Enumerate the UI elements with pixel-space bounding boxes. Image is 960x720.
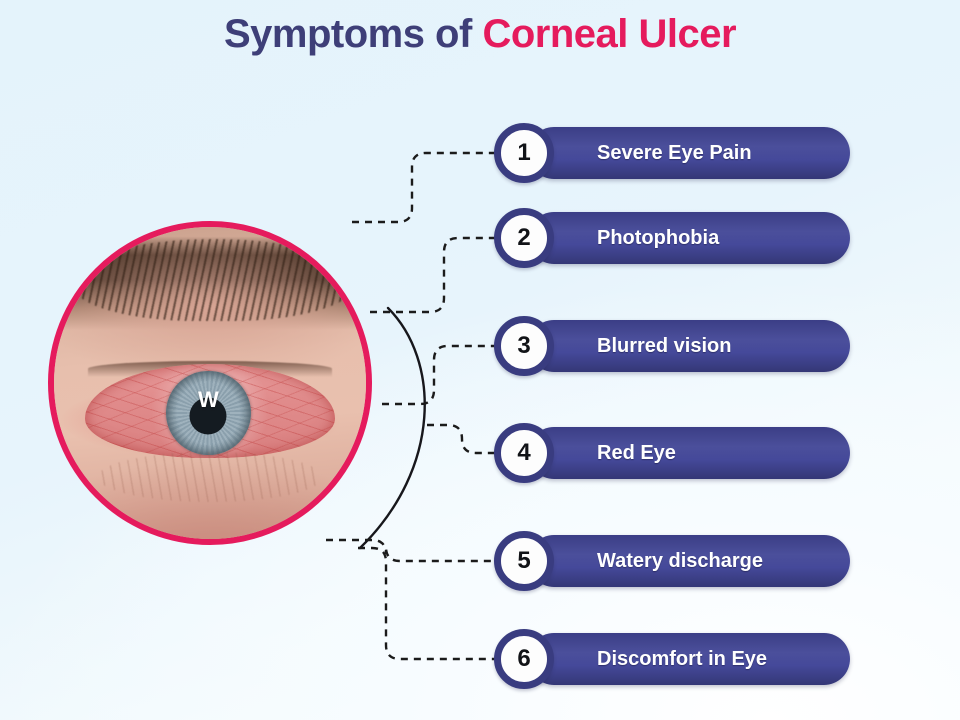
symptom-item-5[interactable]: 5 Watery discharge (528, 535, 850, 587)
watermark-glint: W (198, 389, 219, 411)
symptom-number-badge: 2 (494, 208, 554, 268)
symptom-item-6[interactable]: 6 Discomfort in Eye (528, 633, 850, 685)
title-accent-text: Corneal Ulcer (482, 12, 736, 56)
symptom-label: Red Eye (597, 442, 676, 465)
connector-2 (370, 238, 512, 312)
symptom-label: Discomfort in Eye (597, 648, 767, 671)
symptom-item-3[interactable]: 3 Blurred vision (528, 320, 850, 372)
symptom-number-badge: 4 (494, 423, 554, 483)
symptom-item-2[interactable]: 2 Photophobia (528, 212, 850, 264)
lower-lid-wrinkles (98, 452, 323, 502)
infographic-canvas: Symptoms of Corneal Ulcer W (0, 0, 960, 720)
connector-1 (352, 153, 512, 222)
page-title: Symptoms of Corneal Ulcer (0, 12, 960, 57)
eye-photo-image: W (54, 227, 366, 539)
symptom-item-1[interactable]: 1 Severe Eye Pain (528, 127, 850, 179)
symptom-label: Watery discharge (597, 550, 763, 573)
connector-5 (326, 540, 512, 561)
symptom-number-badge: 5 (494, 531, 554, 591)
symptom-label: Photophobia (597, 227, 719, 250)
symptom-number-badge: 6 (494, 629, 554, 689)
symptom-number-badge: 3 (494, 316, 554, 376)
symptom-label: Severe Eye Pain (597, 142, 752, 165)
iris: W (166, 371, 250, 455)
symptom-label: Blurred vision (597, 335, 731, 358)
symptom-item-4[interactable]: 4 Red Eye (528, 427, 850, 479)
connector-3 (382, 346, 512, 404)
title-main-text: Symptoms of (224, 12, 482, 56)
connector-6 (358, 548, 512, 659)
symptom-number-badge: 1 (494, 123, 554, 183)
eye-photo-circle: W (48, 221, 372, 545)
eyebrow (73, 239, 354, 320)
